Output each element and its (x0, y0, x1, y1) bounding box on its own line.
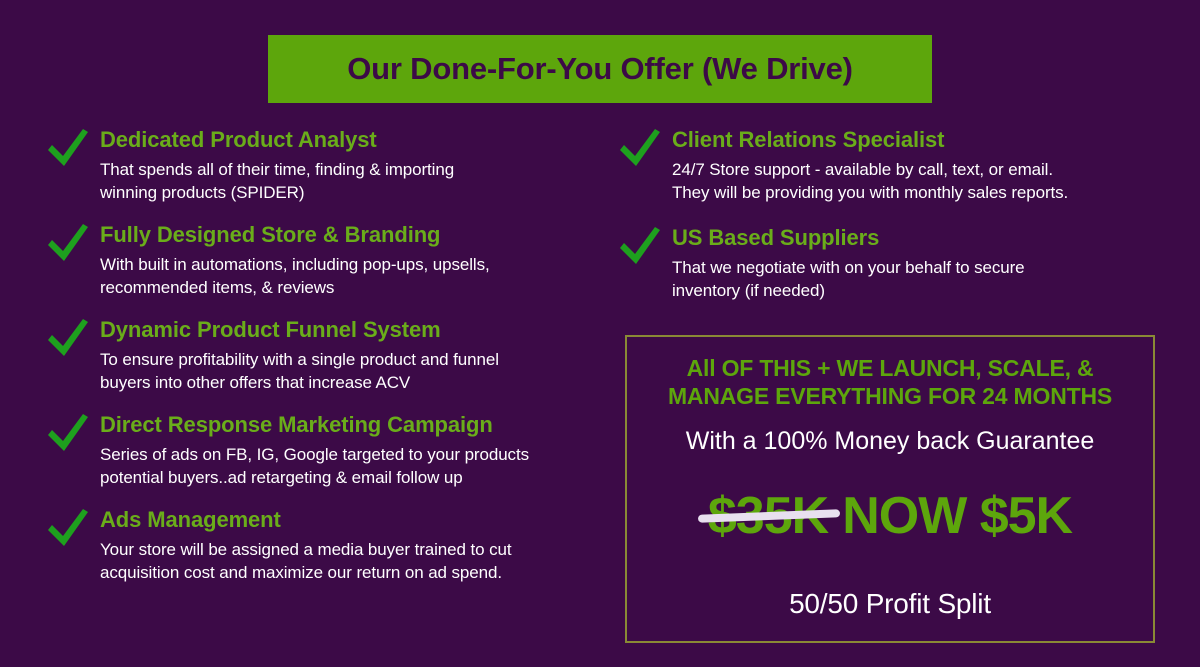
feature-heading: Dedicated Product Analyst (100, 128, 610, 152)
feature-body-line: That we negotiate with on your behalf to… (672, 257, 1152, 279)
check-icon (614, 222, 666, 270)
check-icon (614, 124, 666, 172)
feature-body-line: potential buyers..ad retargeting & email… (100, 467, 610, 489)
feature-item: Ads Management Your store will be assign… (40, 508, 610, 584)
feature-body-line: buyers into other offers that increase A… (100, 372, 610, 394)
feature-body: With built in automations, including pop… (100, 254, 610, 299)
feature-body-line: inventory (if needed) (672, 280, 1152, 302)
original-price: $35K (708, 486, 828, 546)
guarantee-text: With a 100% Money back Guarantee (637, 426, 1143, 456)
feature-body-line: acquisition cost and maximize our return… (100, 562, 610, 584)
feature-heading: US Based Suppliers (672, 226, 1152, 250)
offer-headline: All OF THIS + WE LAUNCH, SCALE, & MANAGE… (637, 355, 1143, 410)
check-icon (42, 314, 94, 362)
feature-heading: Ads Management (100, 508, 610, 532)
feature-body-line: They will be providing you with monthly … (672, 182, 1152, 204)
feature-body-line: To ensure profitability with a single pr… (100, 349, 610, 371)
feature-body: Series of ads on FB, IG, Google targeted… (100, 444, 610, 489)
feature-item: Direct Response Marketing Campaign Serie… (40, 413, 610, 489)
feature-body: 24/7 Store support - available by call, … (672, 159, 1152, 204)
page-title: Our Done-For-You Offer (We Drive) (347, 51, 853, 87)
offer-slide: Our Done-For-You Offer (We Drive) Dedica… (0, 0, 1200, 667)
feature-body: Your store will be assigned a media buye… (100, 539, 610, 584)
feature-item: US Based Suppliers That we negotiate wit… (612, 226, 1152, 302)
feature-heading: Direct Response Marketing Campaign (100, 413, 610, 437)
feature-body-line: 24/7 Store support - available by call, … (672, 159, 1152, 181)
offer-summary-box: All OF THIS + WE LAUNCH, SCALE, & MANAGE… (625, 335, 1155, 643)
check-icon (42, 219, 94, 267)
profit-split-text: 50/50 Profit Split (637, 588, 1143, 620)
page-title-banner: Our Done-For-You Offer (We Drive) (268, 35, 932, 103)
right-feature-column: Client Relations Specialist 24/7 Store s… (612, 128, 1152, 324)
check-icon (42, 124, 94, 172)
left-feature-column: Dedicated Product Analyst That spends al… (40, 128, 610, 603)
feature-body: That we negotiate with on your behalf to… (672, 257, 1152, 302)
check-icon (42, 504, 94, 552)
feature-item: Fully Designed Store & Branding With bui… (40, 223, 610, 299)
feature-item: Dynamic Product Funnel System To ensure … (40, 318, 610, 394)
feature-item: Dedicated Product Analyst That spends al… (40, 128, 610, 204)
feature-heading: Dynamic Product Funnel System (100, 318, 610, 342)
feature-body-line: Your store will be assigned a media buye… (100, 539, 610, 561)
feature-item: Client Relations Specialist 24/7 Store s… (612, 128, 1152, 204)
check-icon (42, 409, 94, 457)
feature-body-line: Series of ads on FB, IG, Google targeted… (100, 444, 610, 466)
feature-body-line: winning products (SPIDER) (100, 182, 610, 204)
current-price: NOW $5K (842, 486, 1072, 546)
feature-body-line: That spends all of their time, finding &… (100, 159, 610, 181)
offer-headline-line: All OF THIS + WE LAUNCH, SCALE, & (637, 355, 1143, 383)
feature-heading: Client Relations Specialist (672, 128, 1152, 152)
offer-headline-line: MANAGE EVERYTHING FOR 24 MONTHS (637, 383, 1143, 411)
price-row: $35K NOW $5K (637, 486, 1143, 546)
feature-body-line: With built in automations, including pop… (100, 254, 610, 276)
feature-body: To ensure profitability with a single pr… (100, 349, 610, 394)
feature-body-line: recommended items, & reviews (100, 277, 610, 299)
feature-heading: Fully Designed Store & Branding (100, 223, 610, 247)
feature-body: That spends all of their time, finding &… (100, 159, 610, 204)
